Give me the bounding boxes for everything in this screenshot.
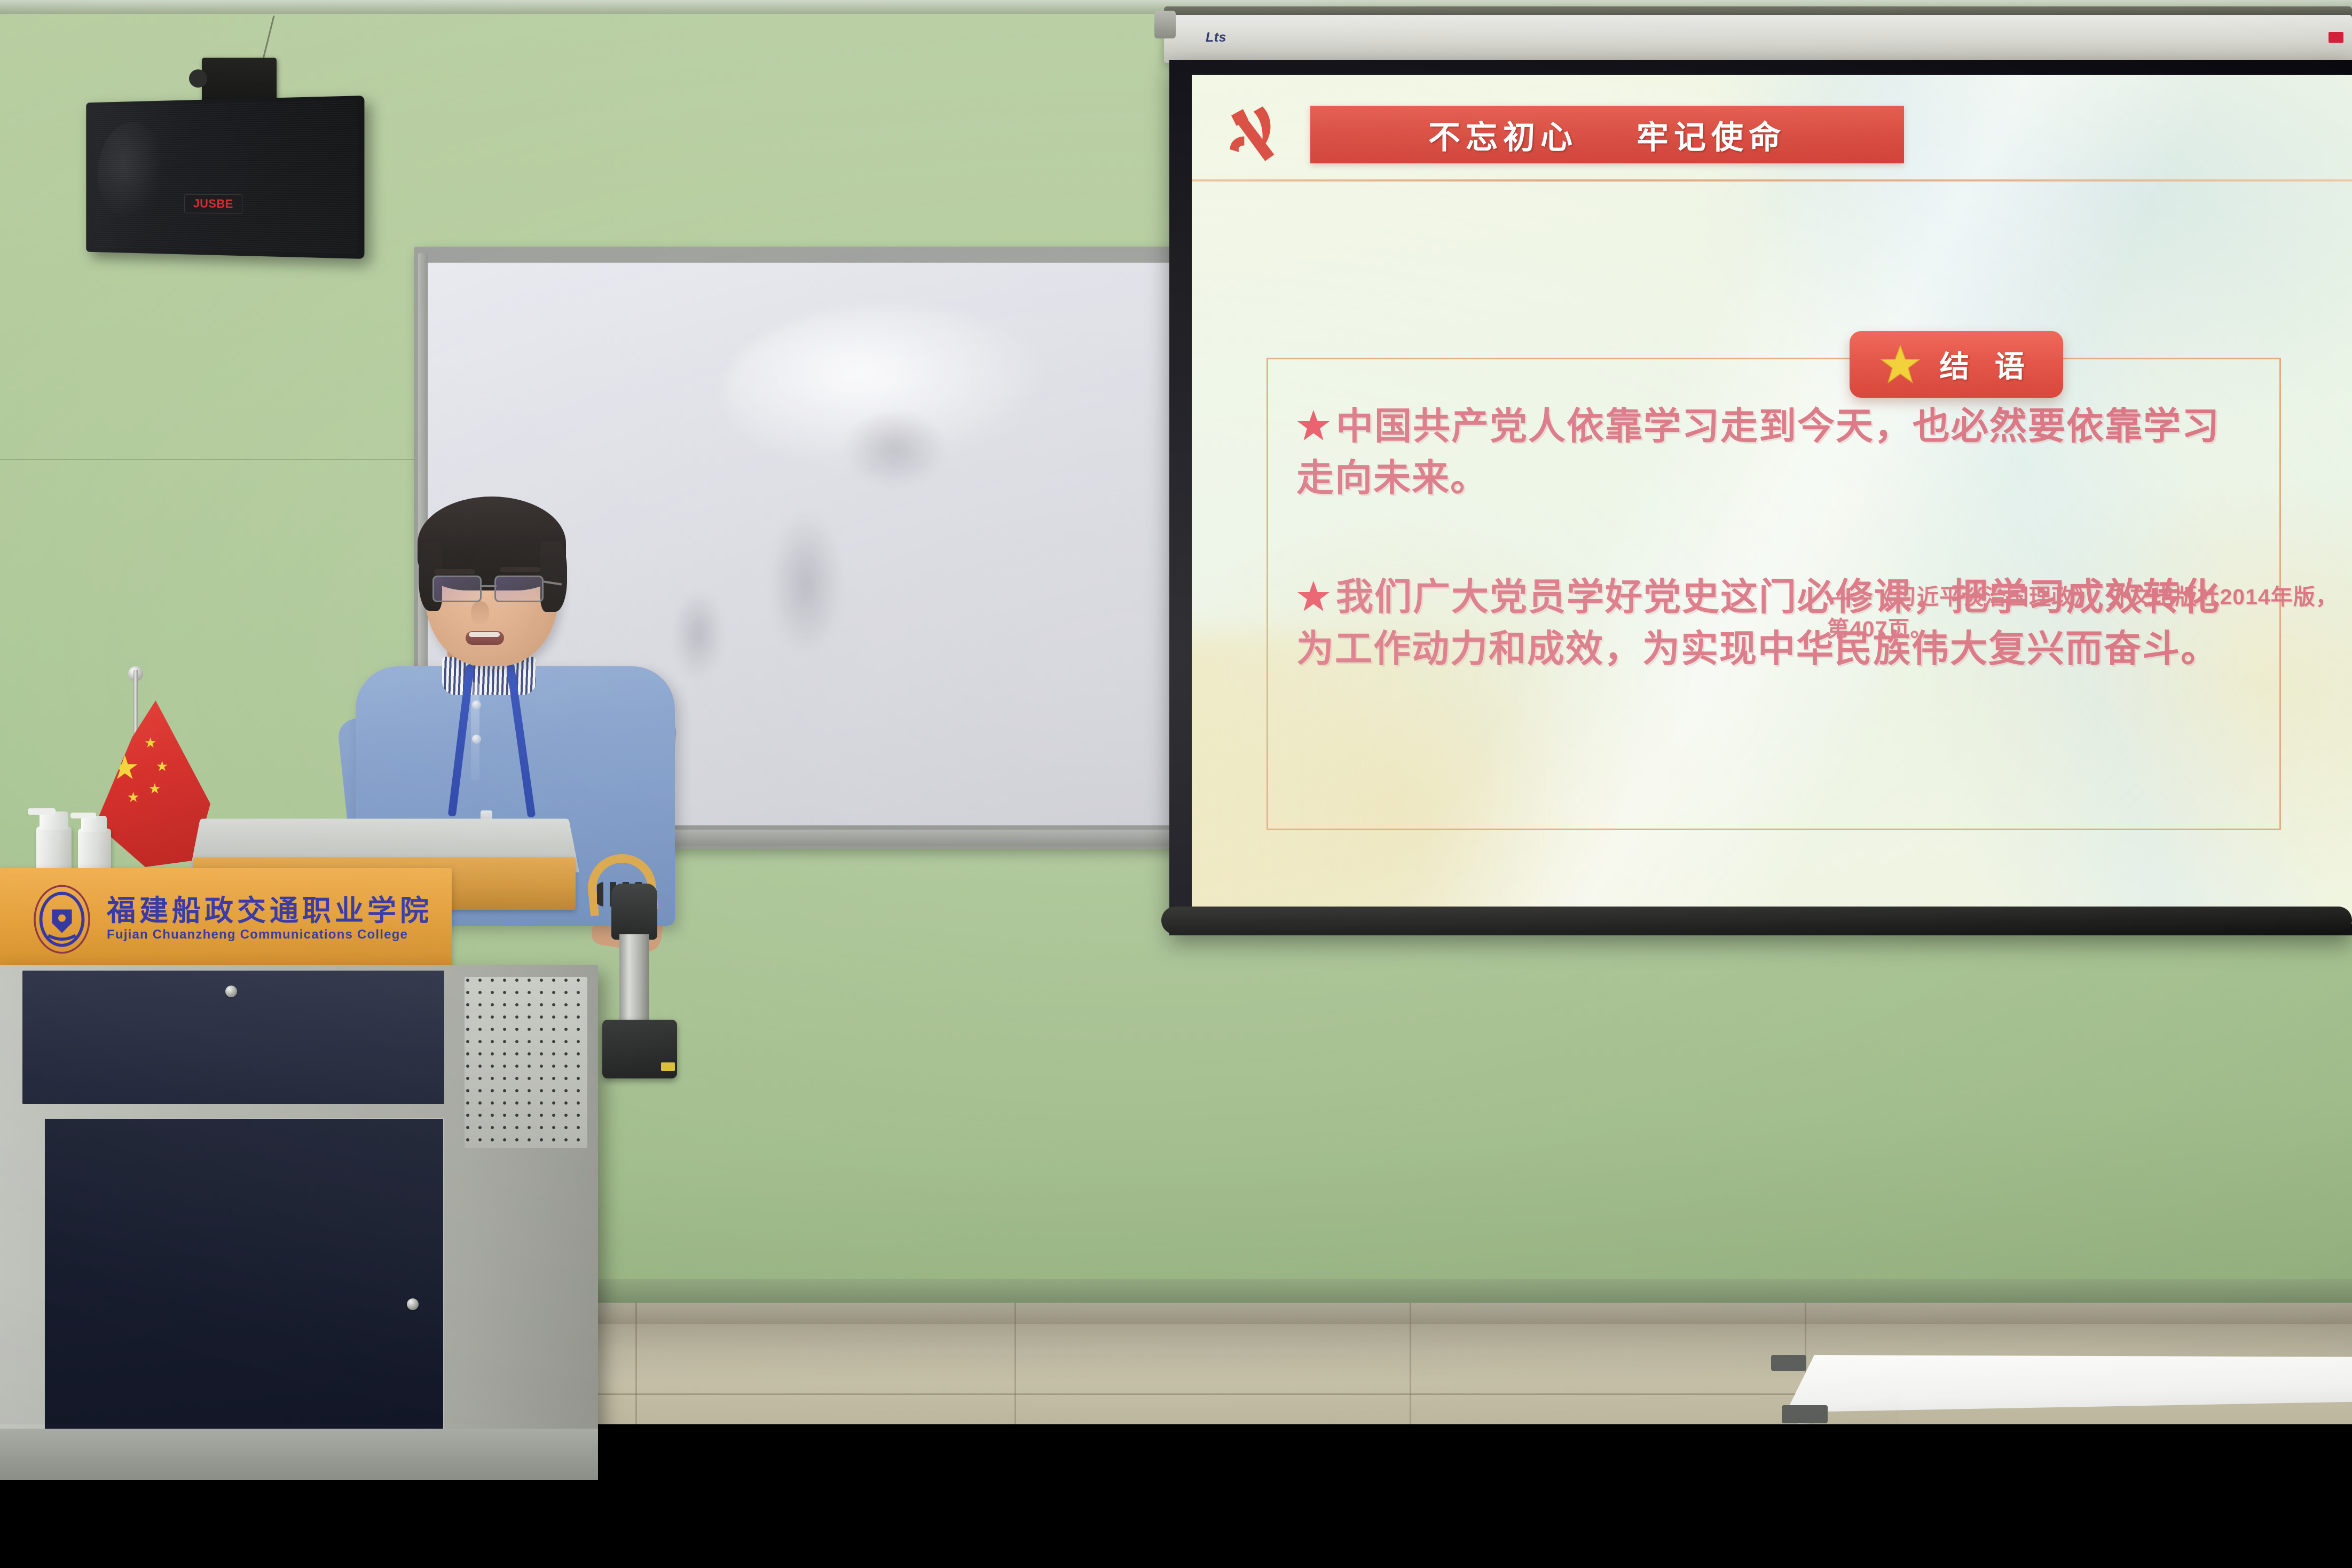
classroom-scene: JUSBE Lts xyxy=(0,0,2352,1568)
slide-title-label: 结 语 xyxy=(1939,343,2033,386)
scene-vignette xyxy=(0,0,2352,1568)
gold-star-icon xyxy=(1879,344,1921,385)
slide-title-badge: 结 语 xyxy=(1850,331,2063,398)
